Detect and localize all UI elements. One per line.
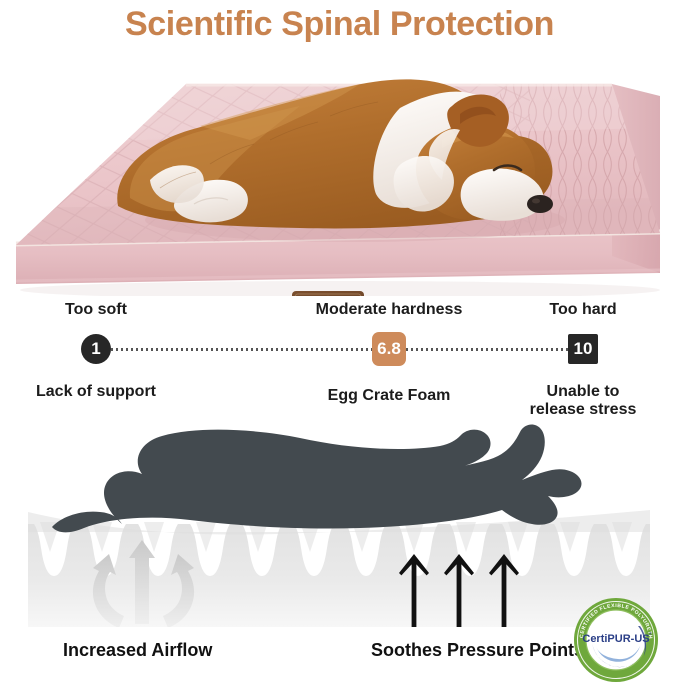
scale-label-moderate-top: Moderate hardness <box>316 301 463 319</box>
scale-label-too-soft-bottom: Lack of support <box>36 383 156 401</box>
product-hero-image <box>0 48 679 296</box>
certipur-registered-mark: ® <box>649 631 652 636</box>
dog-silhouette <box>52 425 581 533</box>
scale-badge-10: 10 <box>568 334 598 364</box>
scale-badge-1: 1 <box>81 334 111 364</box>
certipur-us-logo: CONTAINS CERTIFIED FLEXIBLE POLYURETHANE… <box>572 596 660 684</box>
hardness-scale: Too soft 1 Lack of support Moderate hard… <box>0 300 679 410</box>
brand-tag <box>292 291 364 296</box>
product-infographic: Scientific Spinal Protection <box>0 0 679 686</box>
scale-label-too-hard-line1: Unable to <box>547 383 620 400</box>
caption-soothes-pressure-points: Soothes Pressure Points <box>371 640 584 661</box>
scale-label-too-hard-top: Too hard <box>549 301 616 319</box>
scale-label-moderate-bottom: Egg Crate Foam <box>328 387 451 405</box>
scale-track <box>96 348 583 351</box>
caption-increased-airflow: Increased Airflow <box>63 640 212 661</box>
certipur-wordmark: CertiPUR-US <box>582 633 649 645</box>
scale-label-too-soft-top: Too soft <box>65 301 127 319</box>
page-title: Scientific Spinal Protection <box>0 0 679 48</box>
foam-cross-section-diagram <box>0 412 679 627</box>
dog-bed-illustration <box>0 48 679 296</box>
scale-badge-6-8: 6.8 <box>372 332 406 366</box>
